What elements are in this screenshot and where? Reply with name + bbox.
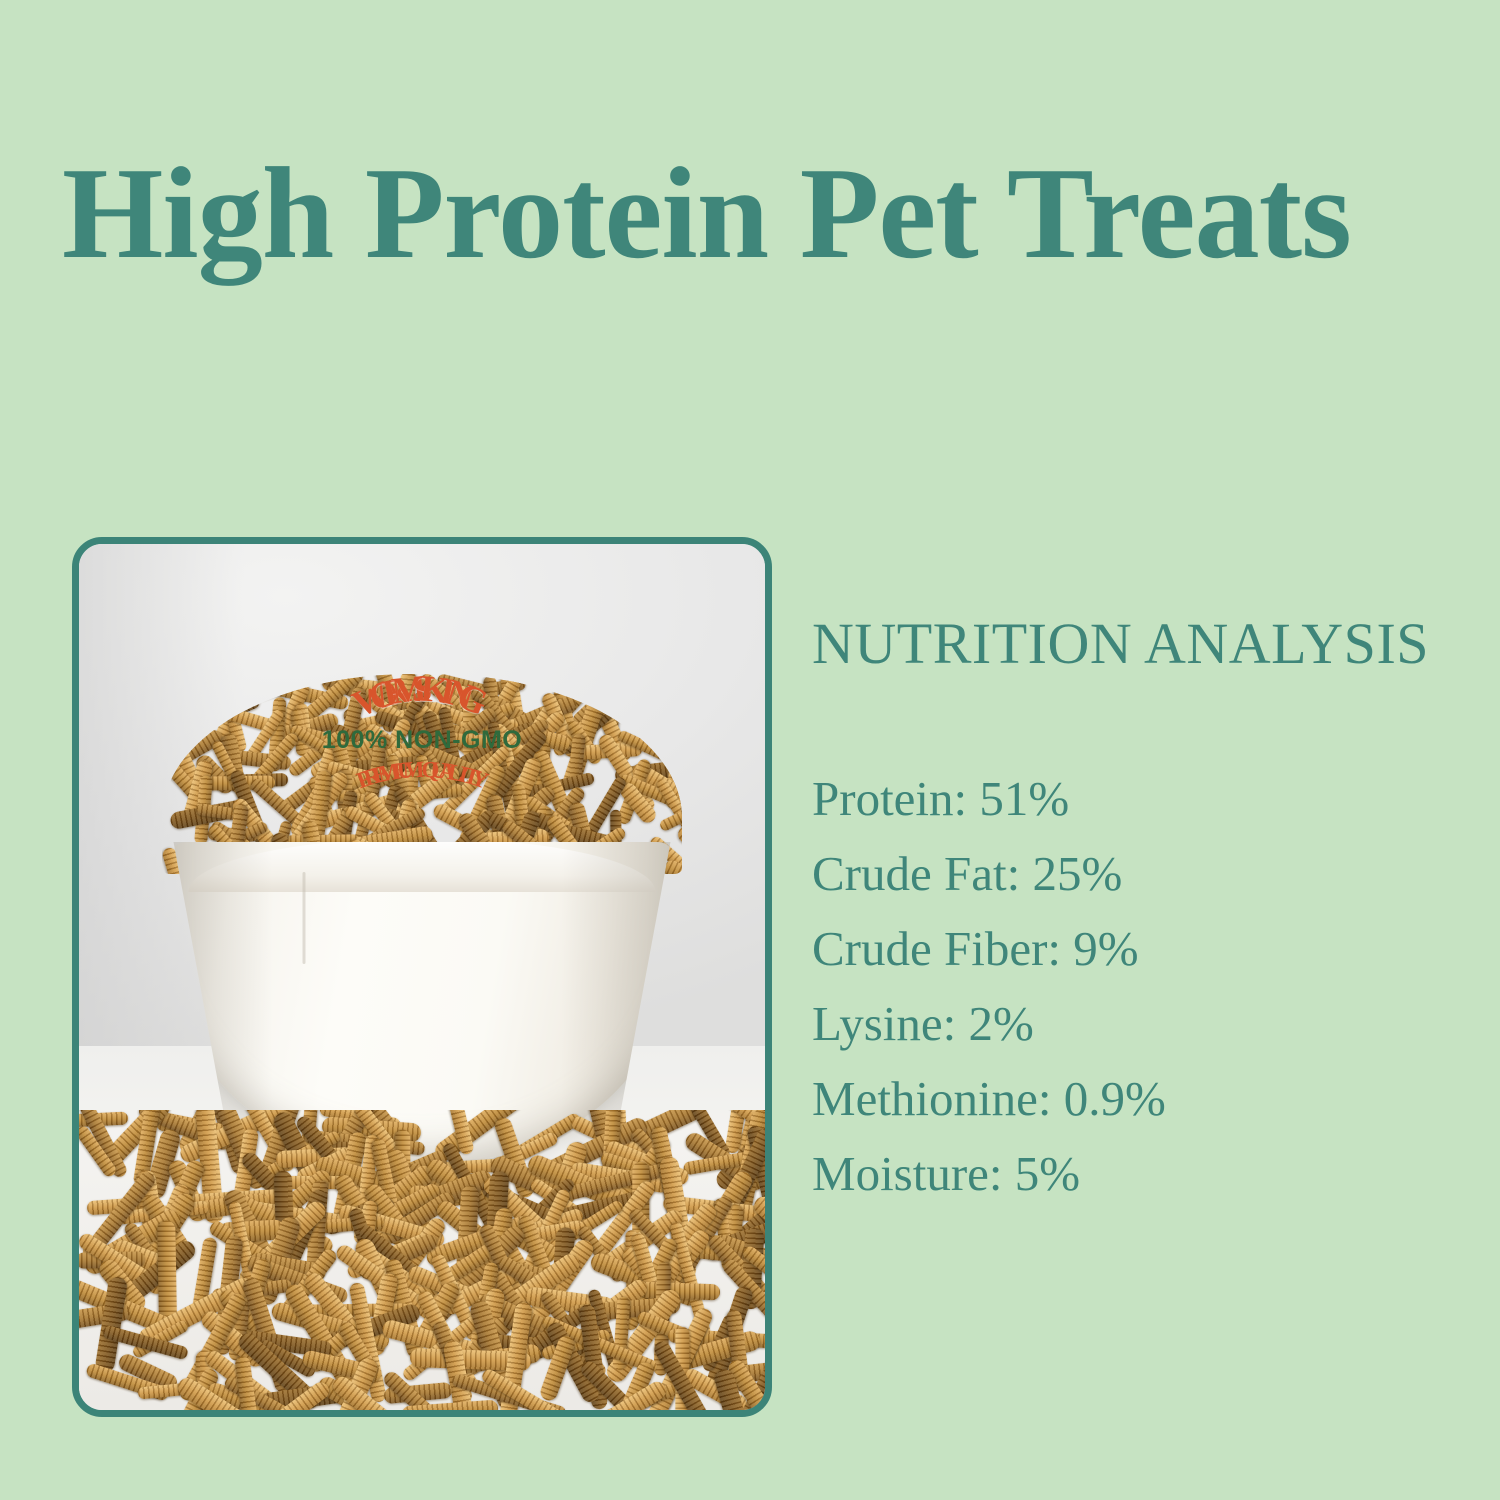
nutrition-row: Lysine: 2% (812, 986, 1472, 1061)
nutrition-row: Protein: 51% (812, 761, 1472, 836)
mealworm (158, 1220, 177, 1323)
nutrition-row: Crude Fat: 25% (812, 836, 1472, 911)
page-title: High Protein Pet Treats (62, 148, 1455, 279)
product-photo: WORMSKING 100% NON-GMO PREMIUM QUALITY (79, 544, 765, 1410)
product-photo-card: WORMSKING 100% NON-GMO PREMIUM QUALITY (72, 537, 772, 1417)
nutrition-heading: NUTRITION ANALYSIS (812, 612, 1472, 676)
nutrition-row: Moisture: 5% (812, 1136, 1472, 1211)
nutrition-list: Protein: 51%Crude Fat: 25%Crude Fiber: 9… (812, 761, 1472, 1211)
nutrition-analysis-panel: NUTRITION ANALYSIS Protein: 51%Crude Fat… (812, 612, 1472, 1211)
bowl-seam (303, 872, 306, 964)
scattered-mealworms (79, 1110, 765, 1410)
nutrition-row: Crude Fiber: 9% (812, 911, 1472, 986)
nutrition-row: Methionine: 0.9% (812, 1061, 1472, 1136)
